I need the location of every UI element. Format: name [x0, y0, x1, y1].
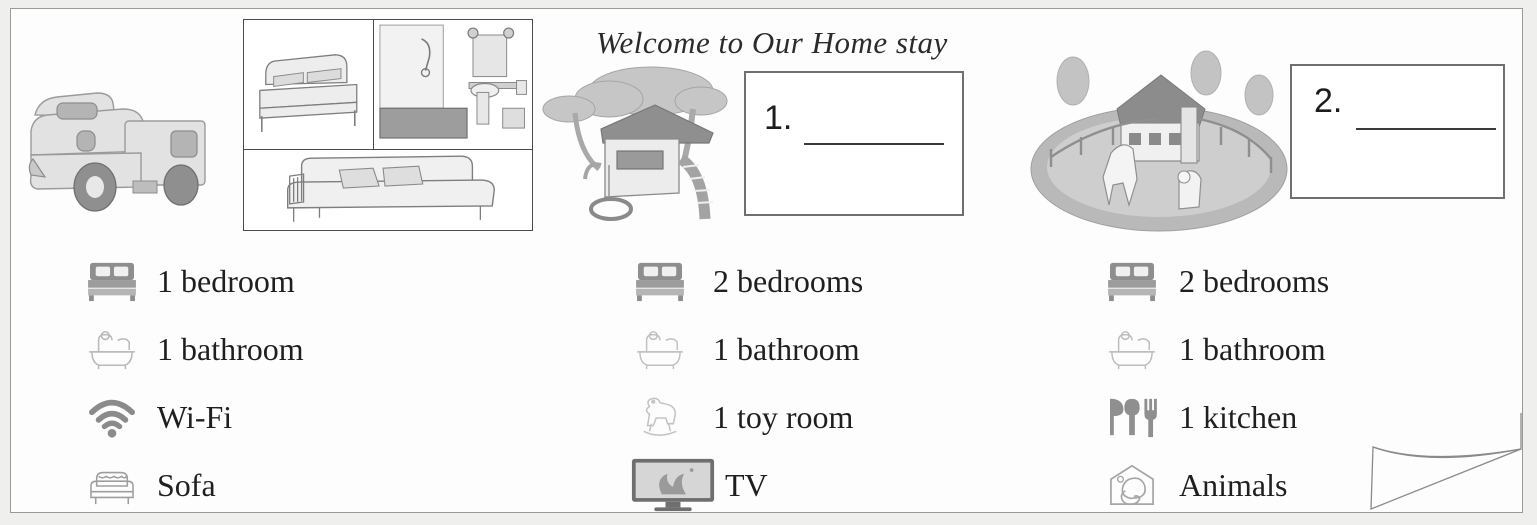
- feature-row: Sofa: [81, 451, 304, 513]
- bed-icon: [81, 253, 143, 309]
- bed-icon: [629, 253, 691, 309]
- feature-column-3: 2 bedrooms 1 bathroom: [1101, 247, 1329, 513]
- feature-row: 1 bathroom: [629, 315, 863, 383]
- answer-box-2[interactable]: 2.: [1290, 64, 1505, 199]
- feature-label: 1 bedroom: [157, 263, 295, 300]
- feature-label: 1 bathroom: [713, 331, 860, 368]
- feature-label: Wi-Fi: [157, 399, 232, 436]
- feature-row: 1 bathroom: [81, 315, 304, 383]
- page-curl-corner: [1311, 411, 1523, 513]
- feature-label: 2 bedrooms: [1179, 263, 1329, 300]
- feature-column-1: 1 bedroom 1 bathroom: [81, 247, 304, 513]
- bathtub-icon: [81, 321, 143, 377]
- feature-label: Sofa: [157, 467, 216, 504]
- feature-label: TV: [725, 467, 768, 504]
- feature-row: 1 kitchen: [1101, 383, 1329, 451]
- collage-bathroom-photo: [374, 20, 532, 149]
- farm-house-illustration: [1021, 49, 1296, 244]
- feature-label: 1 bathroom: [1179, 331, 1326, 368]
- barn-animals-icon: [1101, 457, 1163, 513]
- cutlery-icon: [1101, 389, 1163, 445]
- feature-row: 1 bathroom: [1101, 315, 1329, 383]
- bathtub-icon: [629, 321, 691, 377]
- camper-van-illustration: [21, 59, 241, 219]
- photo-collage-illustration: [243, 19, 533, 231]
- feature-row: Wi-Fi: [81, 383, 304, 451]
- feature-row: 2 bedrooms: [629, 247, 863, 315]
- answer-box-2-number: 2.: [1314, 82, 1342, 121]
- feature-label: 1 toy room: [713, 399, 853, 436]
- bed-icon: [1101, 253, 1163, 309]
- sofa-icon: [81, 457, 143, 513]
- feature-row: 1 toy room: [629, 383, 863, 451]
- tree-house-illustration: [531, 57, 746, 232]
- collage-sofa-photo: [244, 150, 532, 230]
- feature-label: 1 kitchen: [1179, 399, 1297, 436]
- feature-row: 1 bedroom: [81, 247, 304, 315]
- feature-label: 2 bedrooms: [713, 263, 863, 300]
- feature-row: Animals: [1101, 451, 1329, 513]
- worksheet-page: Welcome to Our Home stay: [10, 8, 1523, 513]
- tv-icon: [629, 457, 717, 513]
- collage-bedroom-photo: [244, 20, 374, 149]
- feature-label: Animals: [1179, 467, 1287, 504]
- answer-box-2-blank-line[interactable]: [1356, 128, 1496, 130]
- rocking-horse-icon: [629, 389, 691, 445]
- feature-column-2: 2 bedrooms 1 bathroom: [629, 247, 863, 513]
- answer-box-1[interactable]: 1.: [744, 71, 964, 216]
- answer-box-1-number: 1.: [764, 99, 792, 138]
- bathtub-icon: [1101, 321, 1163, 377]
- feature-row: 2 bedrooms: [1101, 247, 1329, 315]
- page-title: Welcome to Our Home stay: [596, 25, 948, 61]
- answer-box-1-blank-line[interactable]: [804, 143, 944, 145]
- feature-row: TV: [629, 451, 863, 513]
- wifi-icon: [81, 389, 143, 445]
- feature-label: 1 bathroom: [157, 331, 304, 368]
